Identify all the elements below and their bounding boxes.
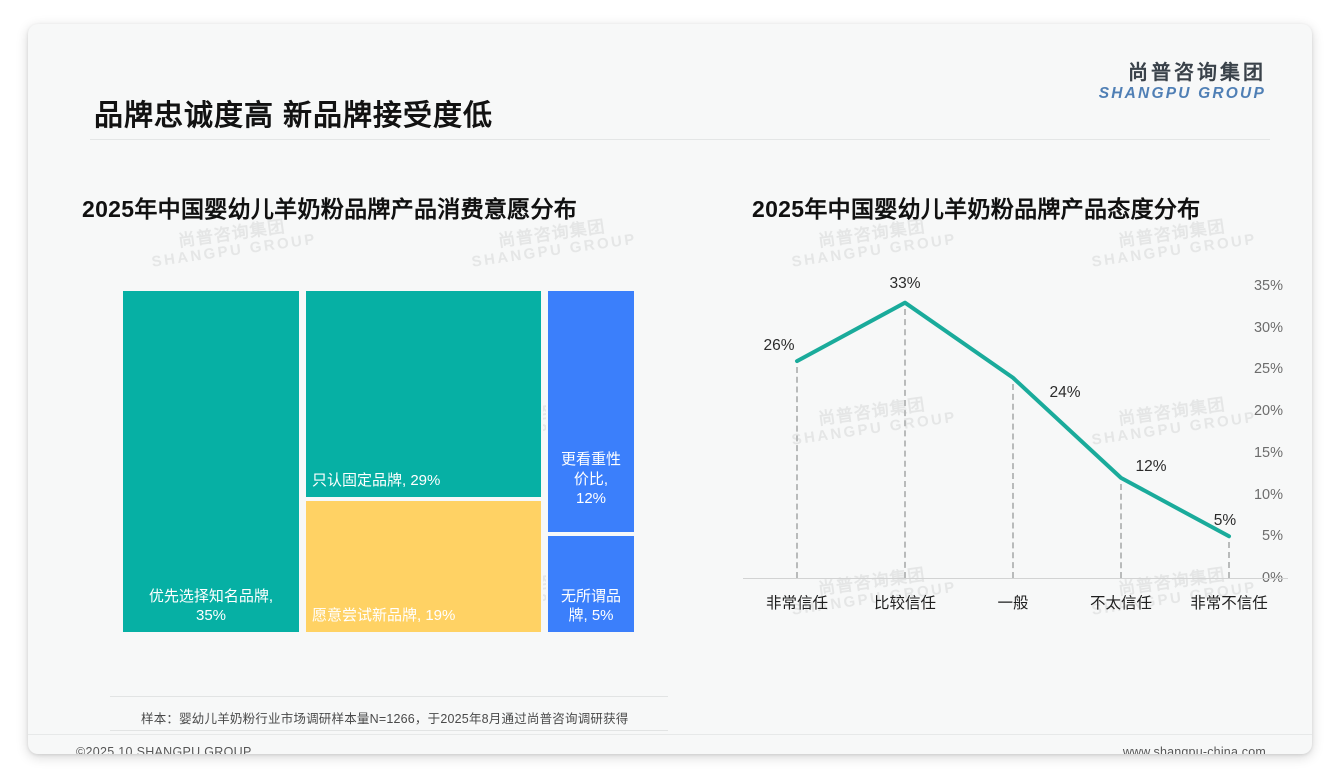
treemap-cell-label-1: 优先选择知名品牌, 35% <box>129 587 293 625</box>
treemap-cell-brand-indifferent[interactable]: 无所谓品 牌, 5% <box>546 534 636 634</box>
footer-website[interactable]: www.shangpu-china.com <box>1123 745 1266 754</box>
footnote-text: 样本：婴幼儿羊奶粉行业市场调研样本量N=1266，于2025年8月通过尚普咨询调… <box>141 708 629 727</box>
header-divider <box>90 139 1270 140</box>
treemap-cell-label-3: 愿意尝试新品牌, 19% <box>312 606 535 625</box>
treemap-cell-price-performance[interactable]: 更看重性 价比, 12% <box>546 289 636 534</box>
x-axis-label-一般: 一般 <box>997 591 1028 613</box>
gridline-4 <box>1120 484 1122 578</box>
treemap-cell-fixed-brand-only[interactable]: 只认固定品牌, 29% <box>304 289 543 499</box>
data-label-不太信任: 12% <box>1135 458 1166 476</box>
data-label-比较信任: 33% <box>889 275 920 293</box>
treemap-cell-label-2: 只认固定品牌, 29% <box>312 471 535 490</box>
line-chart: 0%5%10%15%20%25%30%35% 26%33%24%12%5% 非常… <box>683 286 1283 616</box>
line-chart-plot-area: 26%33%24%12%5% <box>743 286 1283 578</box>
treemap-chart-title: 2025年中国婴幼儿羊奶粉品牌产品消费意愿分布 <box>82 190 577 224</box>
treemap-cell-label-5: 无所谓品 牌, 5% <box>554 587 628 625</box>
line-chart-title: 2025年中国婴幼儿羊奶粉品牌产品态度分布 <box>752 190 1200 224</box>
gridline-5 <box>1228 542 1230 578</box>
gridline-3 <box>1012 384 1014 578</box>
data-label-一般: 24% <box>1049 384 1080 402</box>
data-label-非常信任: 26% <box>763 337 794 355</box>
treemap-column-3: 更看重性 价比, 12% 无所谓品 牌, 5% <box>546 289 636 634</box>
logo-chinese-text: 尚普咨询集团 <box>1099 62 1266 85</box>
brand-logo: 尚普咨询集团 SHANGPU GROUP <box>1099 62 1266 103</box>
page-title: 品牌忠诚度高 新品牌接受度低 <box>94 92 493 134</box>
footnote-divider-bottom <box>110 730 668 731</box>
x-axis-label-比较信任: 比较信任 <box>874 591 936 613</box>
treemap-cell-preferred-known-brand[interactable]: 优先选择知名品牌, 35% <box>121 289 301 634</box>
gridline-1 <box>796 367 798 578</box>
x-axis-line <box>743 578 1288 579</box>
treemap-chart: 优先选择知名品牌, 35% 只认固定品牌, 29% 愿意尝试新品牌, 19% 更… <box>121 289 636 634</box>
x-axis-label-非常信任: 非常信任 <box>766 591 828 613</box>
x-axis-label-不太信任: 不太信任 <box>1090 591 1152 613</box>
x-axis-label-非常不信任: 非常不信任 <box>1190 591 1268 613</box>
logo-english-text: SHANGPU GROUP <box>1099 85 1266 103</box>
slide-canvas: 尚普咨询集团SHANGPU GROUP尚普咨询集团SHANGPU GROUP尚普… <box>28 24 1312 754</box>
treemap-cell-willing-to-try-new[interactable]: 愿意尝试新品牌, 19% <box>304 499 543 634</box>
footer-divider <box>28 734 1312 735</box>
treemap-column-2: 只认固定品牌, 29% 愿意尝试新品牌, 19% <box>304 289 543 634</box>
gridline-2 <box>904 309 906 578</box>
footnote-divider-top <box>110 696 668 697</box>
data-label-非常不信任: 5% <box>1214 512 1236 530</box>
treemap-column-1: 优先选择知名品牌, 35% <box>121 289 301 634</box>
footer-copyright: ©2025.10 SHANGPU GROUP <box>76 745 252 754</box>
treemap-cell-label-4: 更看重性 价比, 12% <box>554 450 628 508</box>
